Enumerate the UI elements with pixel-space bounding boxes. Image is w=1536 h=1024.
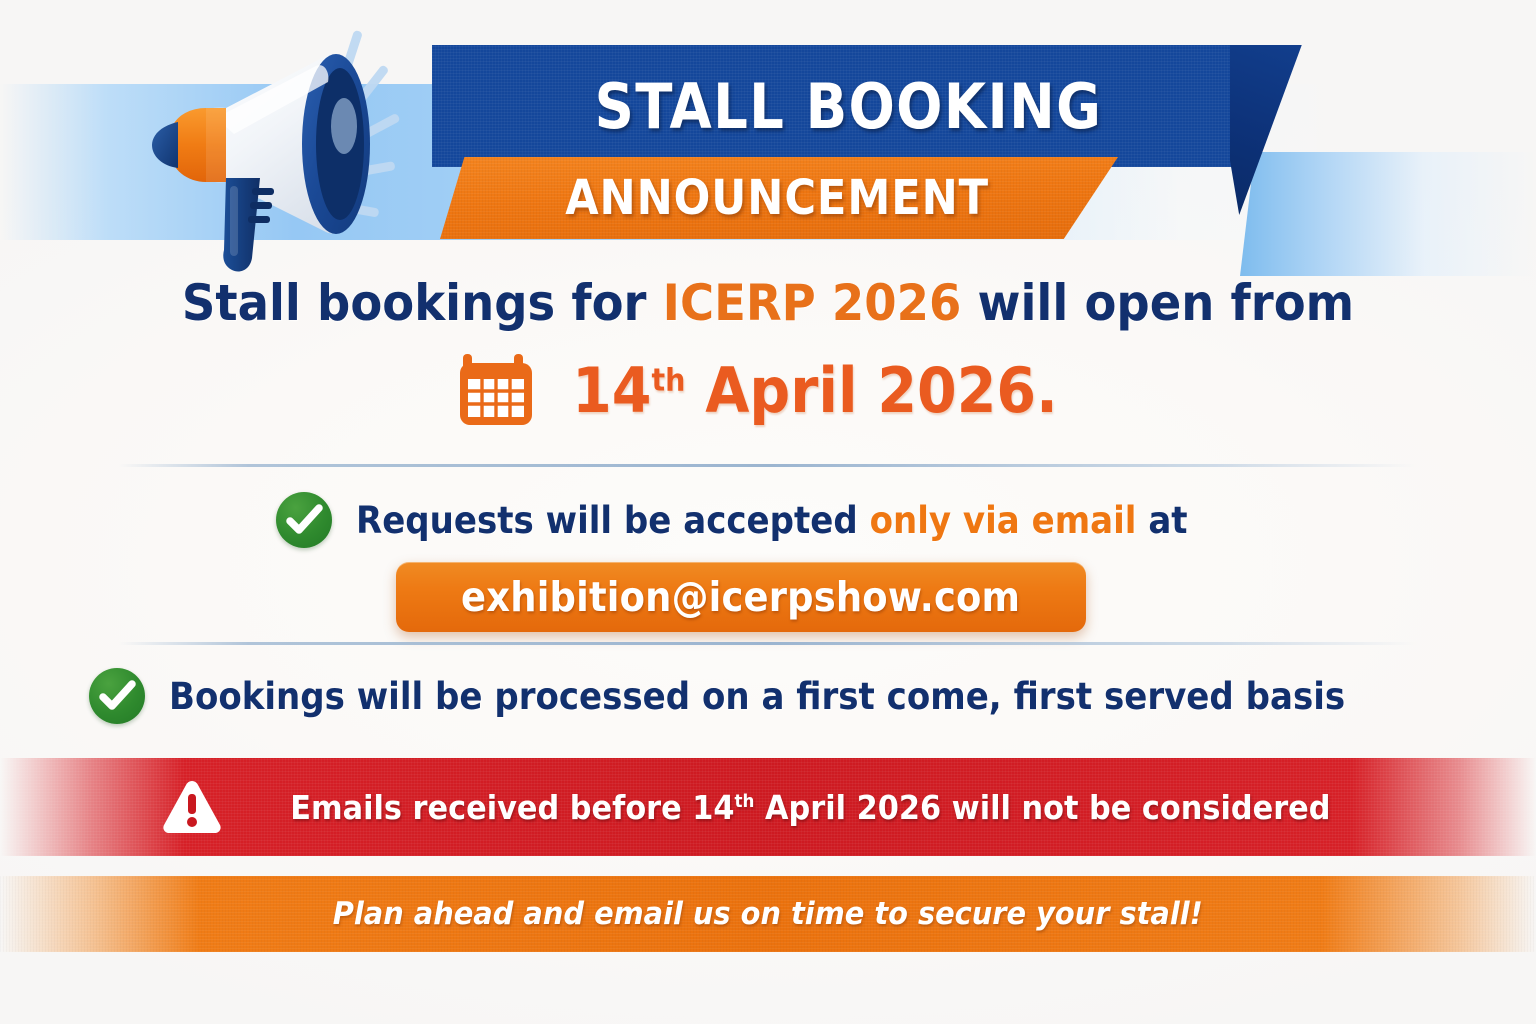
megaphone-icon <box>130 22 530 282</box>
headline-event-name: ICERP 2026 <box>663 274 962 332</box>
section-divider-2 <box>118 642 1418 645</box>
date-ordinal: th <box>652 362 686 398</box>
check-circle-icon <box>276 492 332 548</box>
header-light-blue-band-right <box>1240 152 1536 276</box>
date-day: 14 <box>572 354 651 427</box>
bullet-2-pre: Bookings will be processed on a <box>169 675 796 718</box>
bullet-item-email: Requests will be accepted only via email… <box>0 492 1536 548</box>
bullet-1-accent: only via email <box>870 499 1137 542</box>
warning-post: April 2026 will not be considered <box>754 788 1330 827</box>
stall-booking-announcement-poster: STALL BOOKING ANNOUNCEMENT <box>0 0 1536 1024</box>
warning-text: Emails received before 14th April 2026 w… <box>290 788 1330 827</box>
warning-pre: Emails received before 14 <box>290 788 734 827</box>
headline-block: Stall bookings for ICERP 2026 will open … <box>0 278 1536 431</box>
bullet-1-pre: Requests will be accepted <box>356 499 870 542</box>
warning-banner: Emails received before 14th April 2026 w… <box>0 758 1536 856</box>
bullet-1-post: at <box>1137 499 1188 542</box>
poster-title: STALL BOOKING <box>480 45 1187 167</box>
date-month-year: April 2026. <box>685 354 1057 427</box>
poster-subtitle: ANNOUNCEMENT <box>473 157 1059 239</box>
bullet-2-text: Bookings will be processed on a first co… <box>169 675 1345 718</box>
bullet-item-first-come: Bookings will be processed on a first co… <box>0 668 1536 724</box>
title-ribbon-blue: STALL BOOKING <box>432 45 1300 167</box>
bullet-1-text: Requests will be accepted only via email… <box>356 499 1188 542</box>
footer-text: Plan ahead and email us on time to secur… <box>333 896 1203 932</box>
warning-triangle-icon <box>161 778 223 836</box>
bullet-2-accent: first come, first served basis <box>796 675 1345 718</box>
footer-banner: Plan ahead and email us on time to secur… <box>0 876 1536 952</box>
headline-post: will open from <box>961 274 1354 332</box>
headline-pre: Stall bookings for <box>182 274 663 332</box>
headline-line-1: Stall bookings for ICERP 2026 will open … <box>54 278 1482 328</box>
email-address-label: exhibition@icerpshow.com <box>461 573 1020 621</box>
section-divider-1 <box>118 464 1418 467</box>
calendar-icon <box>457 350 535 431</box>
subtitle-ribbon-orange: ANNOUNCEMENT <box>440 157 1118 239</box>
email-address-button[interactable]: exhibition@icerpshow.com <box>396 562 1086 632</box>
headline-date: 14th April 2026. <box>572 360 1058 422</box>
warning-ordinal: th <box>734 791 754 812</box>
headline-line-2: 14th April 2026. <box>0 350 1536 431</box>
check-circle-icon <box>89 668 145 724</box>
